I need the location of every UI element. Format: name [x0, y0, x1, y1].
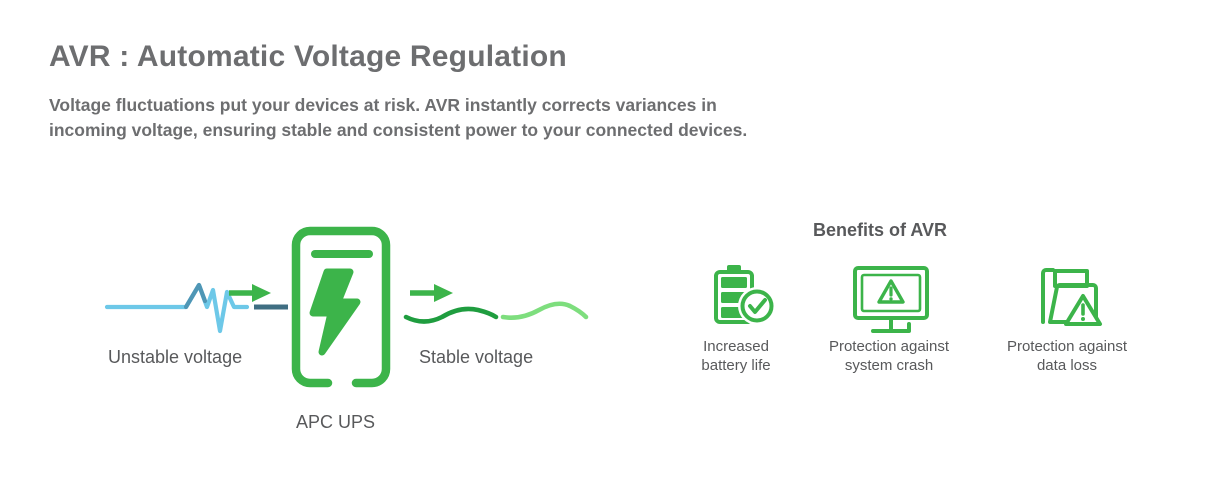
arrow-right-icon-left [229, 284, 271, 302]
ups-device-icon [296, 231, 386, 383]
lightning-bolt-icon [313, 272, 357, 352]
unstable-voltage-label: Unstable voltage [108, 347, 242, 368]
benefit-caption-line-2: system crash [804, 356, 974, 375]
stable-voltage-label: Stable voltage [419, 347, 533, 368]
benefit-caption: Protection against data loss [982, 337, 1152, 375]
diagram-graphics [0, 0, 1214, 498]
benefit-caption-line-2: battery life [651, 356, 821, 375]
benefit-icon-slot [804, 258, 974, 330]
unstable-waveform-icon [107, 285, 247, 331]
benefit-caption-line-2: data loss [982, 356, 1152, 375]
stable-waveform-icon [406, 304, 586, 322]
benefit-caption: Protection against system crash [804, 337, 974, 375]
benefit-caption: Increased battery life [651, 337, 821, 375]
benefit-item-system-crash: Protection against system crash [804, 258, 974, 375]
benefit-caption-line-1: Protection against [982, 337, 1152, 356]
benefit-caption-line-1: Protection against [804, 337, 974, 356]
benefits-title: Benefits of AVR [813, 220, 947, 241]
arrow-right-icon-right [410, 284, 453, 302]
benefit-item-data-loss: Protection against data loss [982, 258, 1152, 375]
benefit-caption-line-1: Increased [651, 337, 821, 356]
benefit-icon-slot [651, 258, 821, 330]
benefit-item-battery: Increased battery life [651, 258, 821, 375]
apc-ups-label: APC UPS [296, 412, 375, 433]
benefit-icon-slot [982, 258, 1152, 330]
